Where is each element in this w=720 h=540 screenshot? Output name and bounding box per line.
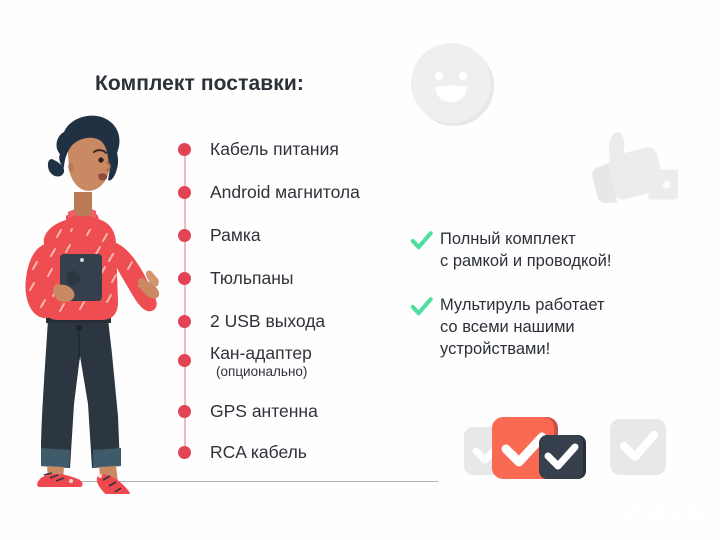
list-item-label: Кабель питания (210, 138, 339, 160)
bullet-dot (178, 446, 191, 459)
benefit-item: Полный комплект с рамкой и проводкой! (410, 228, 700, 272)
check-icon (410, 229, 433, 252)
list-item-label: GPS антенна (210, 400, 318, 422)
list-item-label: RCA кабель (210, 441, 307, 463)
benefit-text: Полный комплект с рамкой и проводкой! (440, 228, 611, 272)
bullet-dot (178, 315, 191, 328)
list-item-label: Рамка (210, 224, 261, 246)
list-item-label: Android магнитола (210, 181, 360, 203)
bullet-dot (178, 272, 191, 285)
benefit-text: Мультируль работает со всеми нашими устр… (440, 294, 605, 360)
checkbox-grey-right (610, 419, 666, 475)
bullet-dot (178, 354, 191, 367)
page-title: Комплект поставки: (95, 72, 304, 96)
poster-canvas: Комплект поставки: Кабель питания Androi… (0, 0, 720, 540)
list-item-sublabel: (опционально) (216, 363, 307, 381)
bullet-dot (178, 143, 191, 156)
checkbox-group (462, 413, 672, 485)
bullet-dot (178, 229, 191, 242)
benefit-item: Мультируль работает со всеми нашими устр… (410, 294, 700, 360)
check-icon (410, 295, 433, 318)
bullet-dot (178, 405, 191, 418)
benefits-list: Полный комплект с рамкой и проводкой! Му… (410, 228, 700, 360)
bullet-dot (178, 186, 191, 199)
list-item-label: Тюльпаны (210, 267, 293, 289)
list-item-label: 2 USB выхода (210, 310, 325, 332)
smiley-face-icon (408, 40, 496, 128)
avito-logo (620, 500, 712, 526)
person-illustration (8, 104, 180, 494)
list-item-label: Кан-адаптер (210, 342, 312, 364)
thumbs-up-icon (582, 118, 678, 214)
